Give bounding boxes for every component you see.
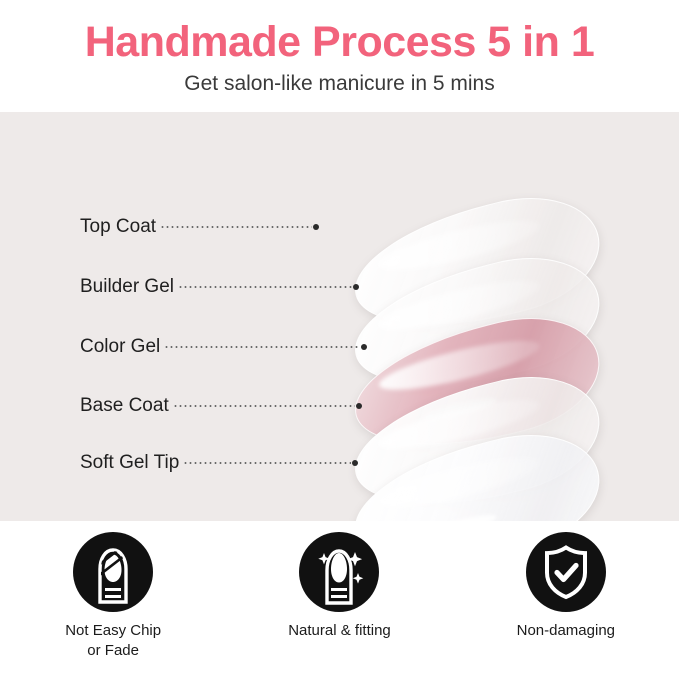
leader-endpoint-dot bbox=[313, 224, 319, 230]
callout-color-gel: Color Gel bbox=[80, 336, 367, 358]
callout-base-coat: Base Coat bbox=[80, 395, 362, 417]
callout-label: Soft Gel Tip bbox=[80, 452, 179, 474]
feature-caption: Non-damaging bbox=[517, 621, 615, 641]
feature-non-damaging: Non-damaging bbox=[453, 521, 679, 641]
leader-line bbox=[178, 286, 352, 288]
feature-not-easy-chip: Not Easy Chip or Fade bbox=[0, 521, 226, 661]
callout-label: Base Coat bbox=[80, 395, 169, 417]
layer-diagram-panel: Top Coat Builder Gel Color Gel Base Coat… bbox=[0, 112, 679, 521]
page-subtitle: Get salon-like manicure in 5 mins bbox=[0, 70, 679, 98]
callout-label: Color Gel bbox=[80, 336, 160, 358]
callout-top-coat: Top Coat bbox=[80, 216, 319, 238]
leader-endpoint-dot bbox=[352, 460, 358, 466]
leader-line bbox=[173, 405, 355, 407]
callout-builder-gel: Builder Gel bbox=[80, 276, 359, 298]
callout-label: Top Coat bbox=[80, 216, 156, 238]
leader-endpoint-dot bbox=[361, 344, 367, 350]
feature-caption: Natural & fitting bbox=[288, 621, 391, 641]
feature-natural-fitting: Natural & fitting bbox=[226, 521, 452, 641]
callout-soft-gel-tip: Soft Gel Tip bbox=[80, 452, 358, 474]
feature-strip: Not Easy Chip or Fade Natural bbox=[0, 521, 679, 679]
page-title: Handmade Process 5 in 1 bbox=[0, 16, 679, 68]
leader-line bbox=[164, 346, 360, 348]
shield-check-icon bbox=[526, 532, 606, 612]
leader-endpoint-dot bbox=[356, 403, 362, 409]
callout-label: Builder Gel bbox=[80, 276, 174, 298]
product-infographic: Handmade Process 5 in 1 Get salon-like m… bbox=[0, 0, 679, 679]
striped-nail-finger-icon bbox=[73, 532, 153, 612]
sparkle-nail-finger-icon bbox=[299, 532, 379, 612]
leader-line bbox=[183, 462, 351, 464]
leader-endpoint-dot bbox=[353, 284, 359, 290]
header: Handmade Process 5 in 1 Get salon-like m… bbox=[0, 0, 679, 112]
leader-line bbox=[160, 226, 312, 228]
feature-caption: Not Easy Chip or Fade bbox=[65, 621, 161, 661]
